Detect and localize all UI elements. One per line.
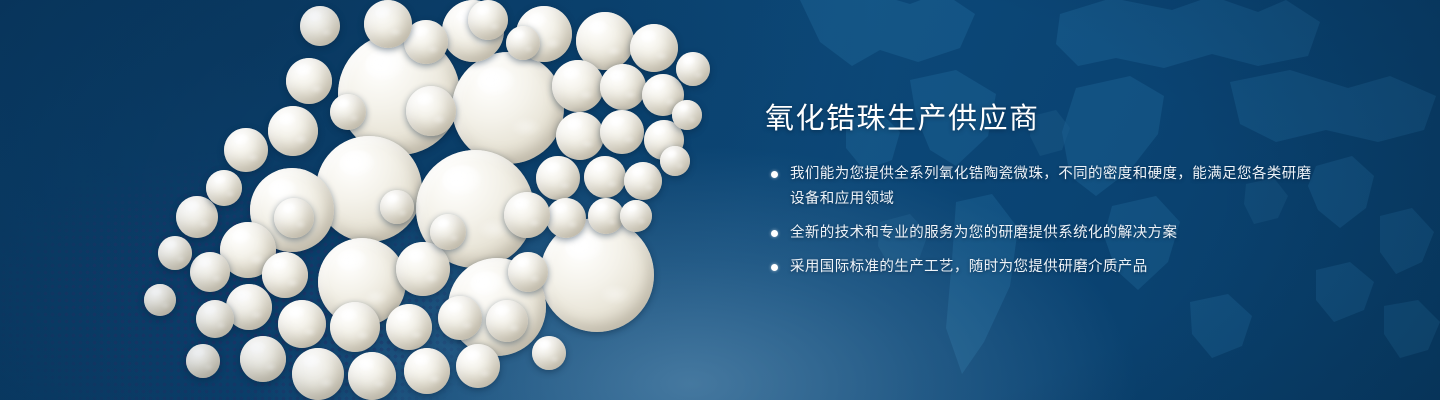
list-item: 我们能为您提供全系列氧化锆陶瓷微珠，不同的密度和硬度，能满足您各类研磨设备和应用… <box>762 162 1322 212</box>
list-item-text: 采用国际标准的生产工艺，随时为您提供研磨介质产品 <box>790 259 1148 275</box>
list-item-text: 我们能为您提供全系列氧化锆陶瓷微珠，不同的密度和硬度，能满足您各类研磨设备和应用… <box>790 166 1312 207</box>
feature-list: 我们能为您提供全系列氧化锆陶瓷微珠，不同的密度和硬度，能满足您各类研磨设备和应用… <box>762 162 1322 280</box>
list-item: 全新的技术和专业的服务为您的研磨提供系统化的解决方案 <box>762 221 1322 246</box>
bullet-dot-icon <box>771 264 778 271</box>
bullet-dot-icon <box>771 230 778 237</box>
page-title: 氧化锆珠生产供应商 <box>765 104 1322 136</box>
list-item-text: 全新的技术和专业的服务为您的研磨提供系统化的解决方案 <box>790 225 1177 241</box>
hero-banner: 氧化锆珠生产供应商 我们能为您提供全系列氧化锆陶瓷微珠，不同的密度和硬度，能满足… <box>0 0 1440 400</box>
banner-copy: 氧化锆珠生产供应商 我们能为您提供全系列氧化锆陶瓷微珠，不同的密度和硬度，能满足… <box>762 104 1322 280</box>
list-item: 采用国际标准的生产工艺，随时为您提供研磨介质产品 <box>762 255 1322 280</box>
bullet-dot-icon <box>771 171 778 178</box>
